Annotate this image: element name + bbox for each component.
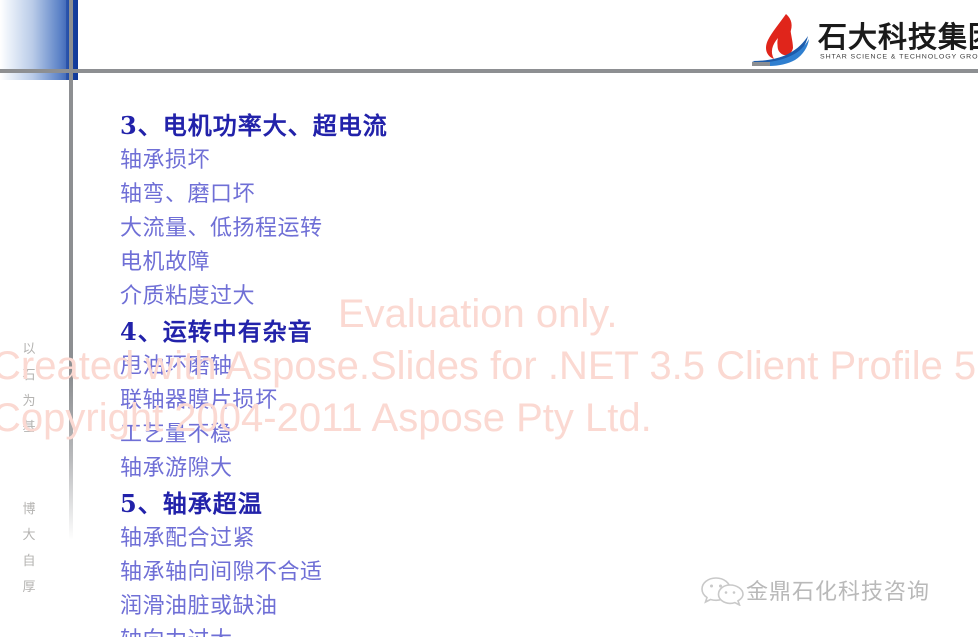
content-item: 大流量、低扬程运转 [120, 212, 680, 246]
wechat-icon [700, 574, 746, 606]
company-logo: 石大科技集团 SHTAR SCIENCE & TECHNOLOGY GROUP [752, 10, 974, 72]
slogan-char: 以 [18, 337, 40, 363]
slogan-left-top: 以 石 为 基 [18, 337, 40, 441]
left-vertical-rule [69, 0, 73, 540]
slogan-char: 石 [18, 363, 40, 389]
slogan-char: 为 [18, 389, 40, 415]
content-item: 电机故障 [120, 246, 680, 280]
wechat-credit-text: 金鼎石化科技咨询 [746, 574, 930, 606]
content-item: 介质粘度过大 [120, 280, 680, 314]
content-item: 联轴器膜片损坏 [120, 384, 680, 418]
content-item: 轴承配合过紧 [120, 522, 680, 556]
slogan-char: 厚 [18, 575, 40, 601]
content-heading: 3、电机功率大、超电流 [120, 108, 680, 144]
content-item: 甩油环磨轴 [120, 350, 680, 384]
content-item: 润滑油脏或缺油 [120, 590, 680, 624]
content-heading: 4、运转中有杂音 [120, 314, 680, 350]
logo-chinese-name: 石大科技集团 [818, 14, 978, 56]
content-item: 轴承损坏 [120, 144, 680, 178]
slide-canvas: 石大科技集团 SHTAR SCIENCE & TECHNOLOGY GROUP … [0, 0, 978, 637]
content-item: 轴承游隙大 [120, 452, 680, 486]
content-heading: 5、轴承超温 [120, 486, 680, 522]
slogan-left-bottom: 博 大 自 厚 [18, 497, 40, 601]
content-item: 轴弯、磨口坏 [120, 178, 680, 212]
slogan-char: 博 [18, 497, 40, 523]
content-item: 轴向力过大 [120, 624, 680, 637]
content-item: 工艺量不稳 [120, 418, 680, 452]
wechat-credit: 金鼎石化科技咨询 [700, 570, 930, 610]
logo-english-name: SHTAR SCIENCE & TECHNOLOGY GROUP [820, 54, 978, 60]
slogan-char: 基 [18, 415, 40, 441]
slide-body-text: 3、电机功率大、超电流 轴承损坏 轴弯、磨口坏 大流量、低扬程运转 电机故障 介… [120, 108, 680, 637]
content-item: 轴承轴向间隙不合适 [120, 556, 680, 590]
slogan-char: 大 [18, 523, 40, 549]
slogan-char: 自 [18, 549, 40, 575]
flame-swoosh-logo-icon [752, 12, 816, 68]
